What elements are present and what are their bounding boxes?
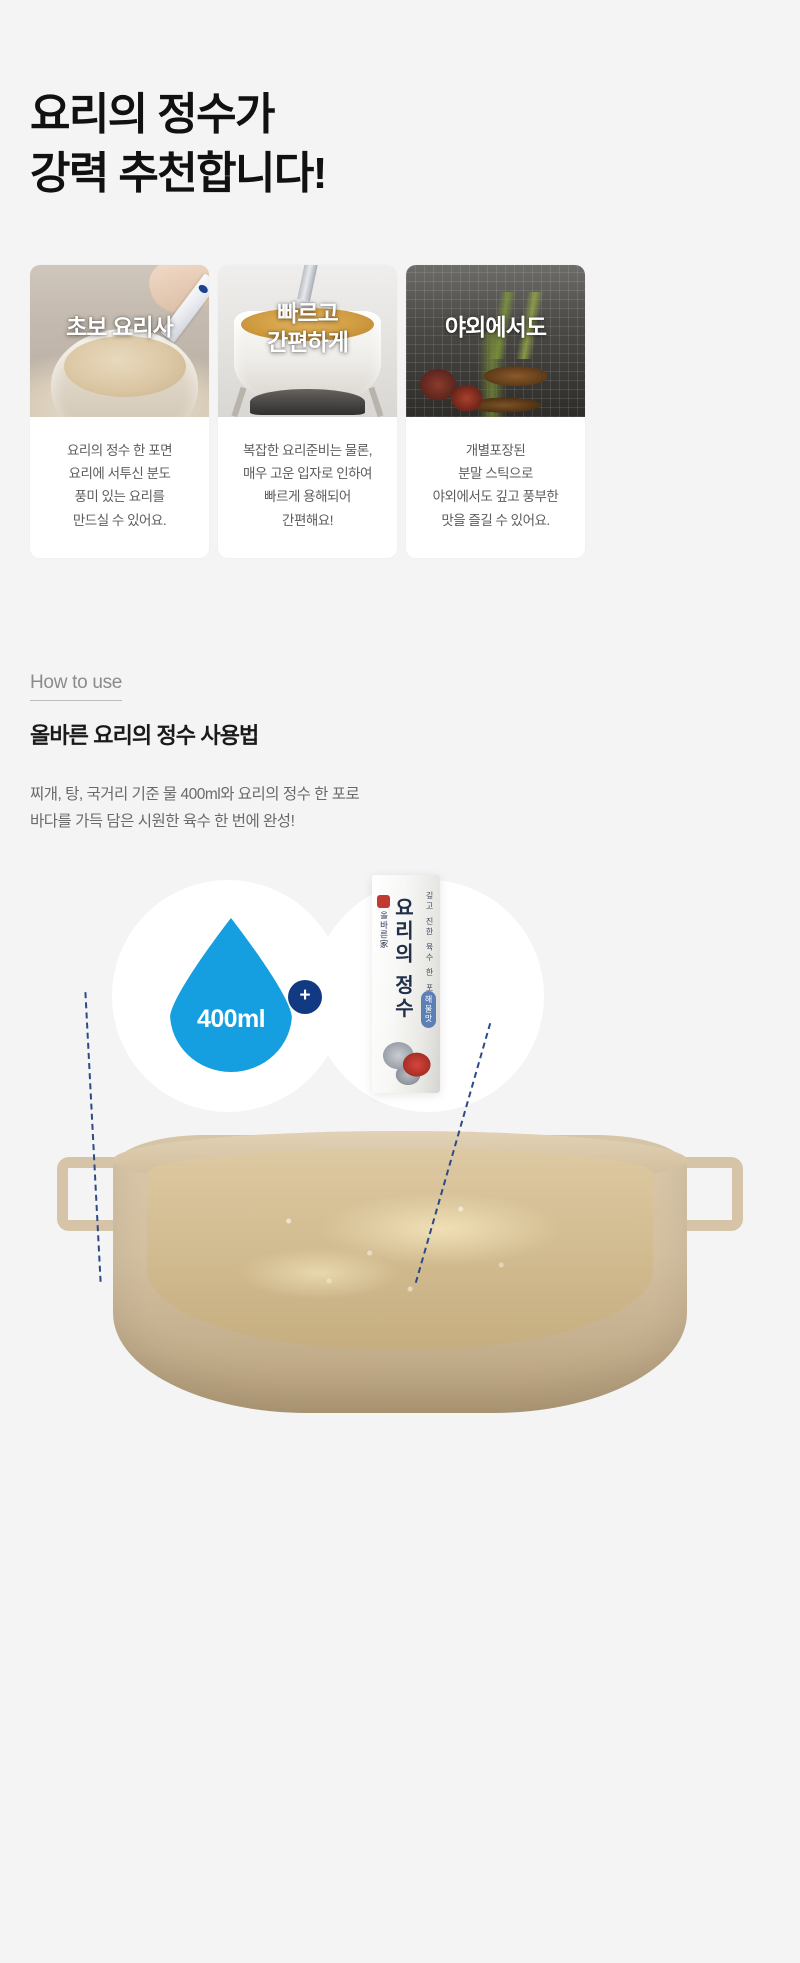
feature-card[interactable]: 야외에서도 개별포장된 분말 스틱으로 야외에서도 깊고 풍부한 맛을 즐길 수… (406, 265, 585, 558)
feature-card[interactable]: 빠르고 간편하게 복잡한 요리준비는 물론, 매우 고운 입자로 인하여 빠르게… (218, 265, 397, 558)
how-to-use-title: 올바른 요리의 정수 사용법 (30, 718, 258, 750)
package-tagline: 깊고 진한 육수 한 포 (424, 891, 435, 994)
water-amount-label: 400ml (170, 1005, 292, 1034)
package-flavor-badge: 해물맛 (421, 991, 436, 1028)
how-to-use-eyebrow: How to use (30, 672, 122, 701)
plus-icon: + (288, 980, 322, 1014)
card-overlay-title: 초보 요리사 (30, 313, 209, 342)
product-detail-page: 요리의 정수가 강력 추천합니다! 초보 요리사 요리의 정수 한 포면 요리에… (0, 0, 800, 1963)
brand-seal-icon (377, 895, 390, 908)
feature-card-list: 초보 요리사 요리의 정수 한 포면 요리에 서투신 분도 풍미 있는 요리를 … (30, 265, 586, 558)
card-overlay-title: 야외에서도 (406, 313, 585, 342)
card-photo: 초보 요리사 (30, 265, 209, 417)
card-photo: 빠르고 간편하게 (218, 265, 397, 417)
seafood-illustration-icon (380, 1031, 434, 1087)
package-product-name: 요리의 정수 (392, 897, 412, 1021)
pot-broth (147, 1149, 653, 1349)
card-body-text: 개별포장된 분말 스틱으로 야외에서도 깊고 풍부한 맛을 즐길 수 있어요. (406, 417, 585, 558)
card-photo: 야외에서도 (406, 265, 585, 417)
pot-illustration (0, 1105, 800, 1435)
gas-burner-icon (250, 389, 365, 415)
how-to-use-description: 찌개, 탕, 국거리 기준 물 400ml와 요리의 정수 한 포로 바다를 가… (30, 782, 359, 836)
page-headline: 요리의 정수가 강력 추천합니다! (30, 86, 326, 203)
package-brand-label: 올바른家 (378, 911, 390, 949)
card-overlay-title: 빠르고 간편하게 (218, 299, 397, 356)
product-stick-package: 올바른家 요리의 정수 깊고 진한 육수 한 포 해물맛 (372, 875, 440, 1093)
card-body-text: 복잡한 요리준비는 물론, 매우 고운 입자로 인하여 빠르게 용해되어 간편해… (218, 417, 397, 558)
card-body-text: 요리의 정수 한 포면 요리에 서투신 분도 풍미 있는 요리를 만드실 수 있… (30, 417, 209, 558)
feature-card[interactable]: 초보 요리사 요리의 정수 한 포면 요리에 서투신 분도 풍미 있는 요리를 … (30, 265, 209, 558)
